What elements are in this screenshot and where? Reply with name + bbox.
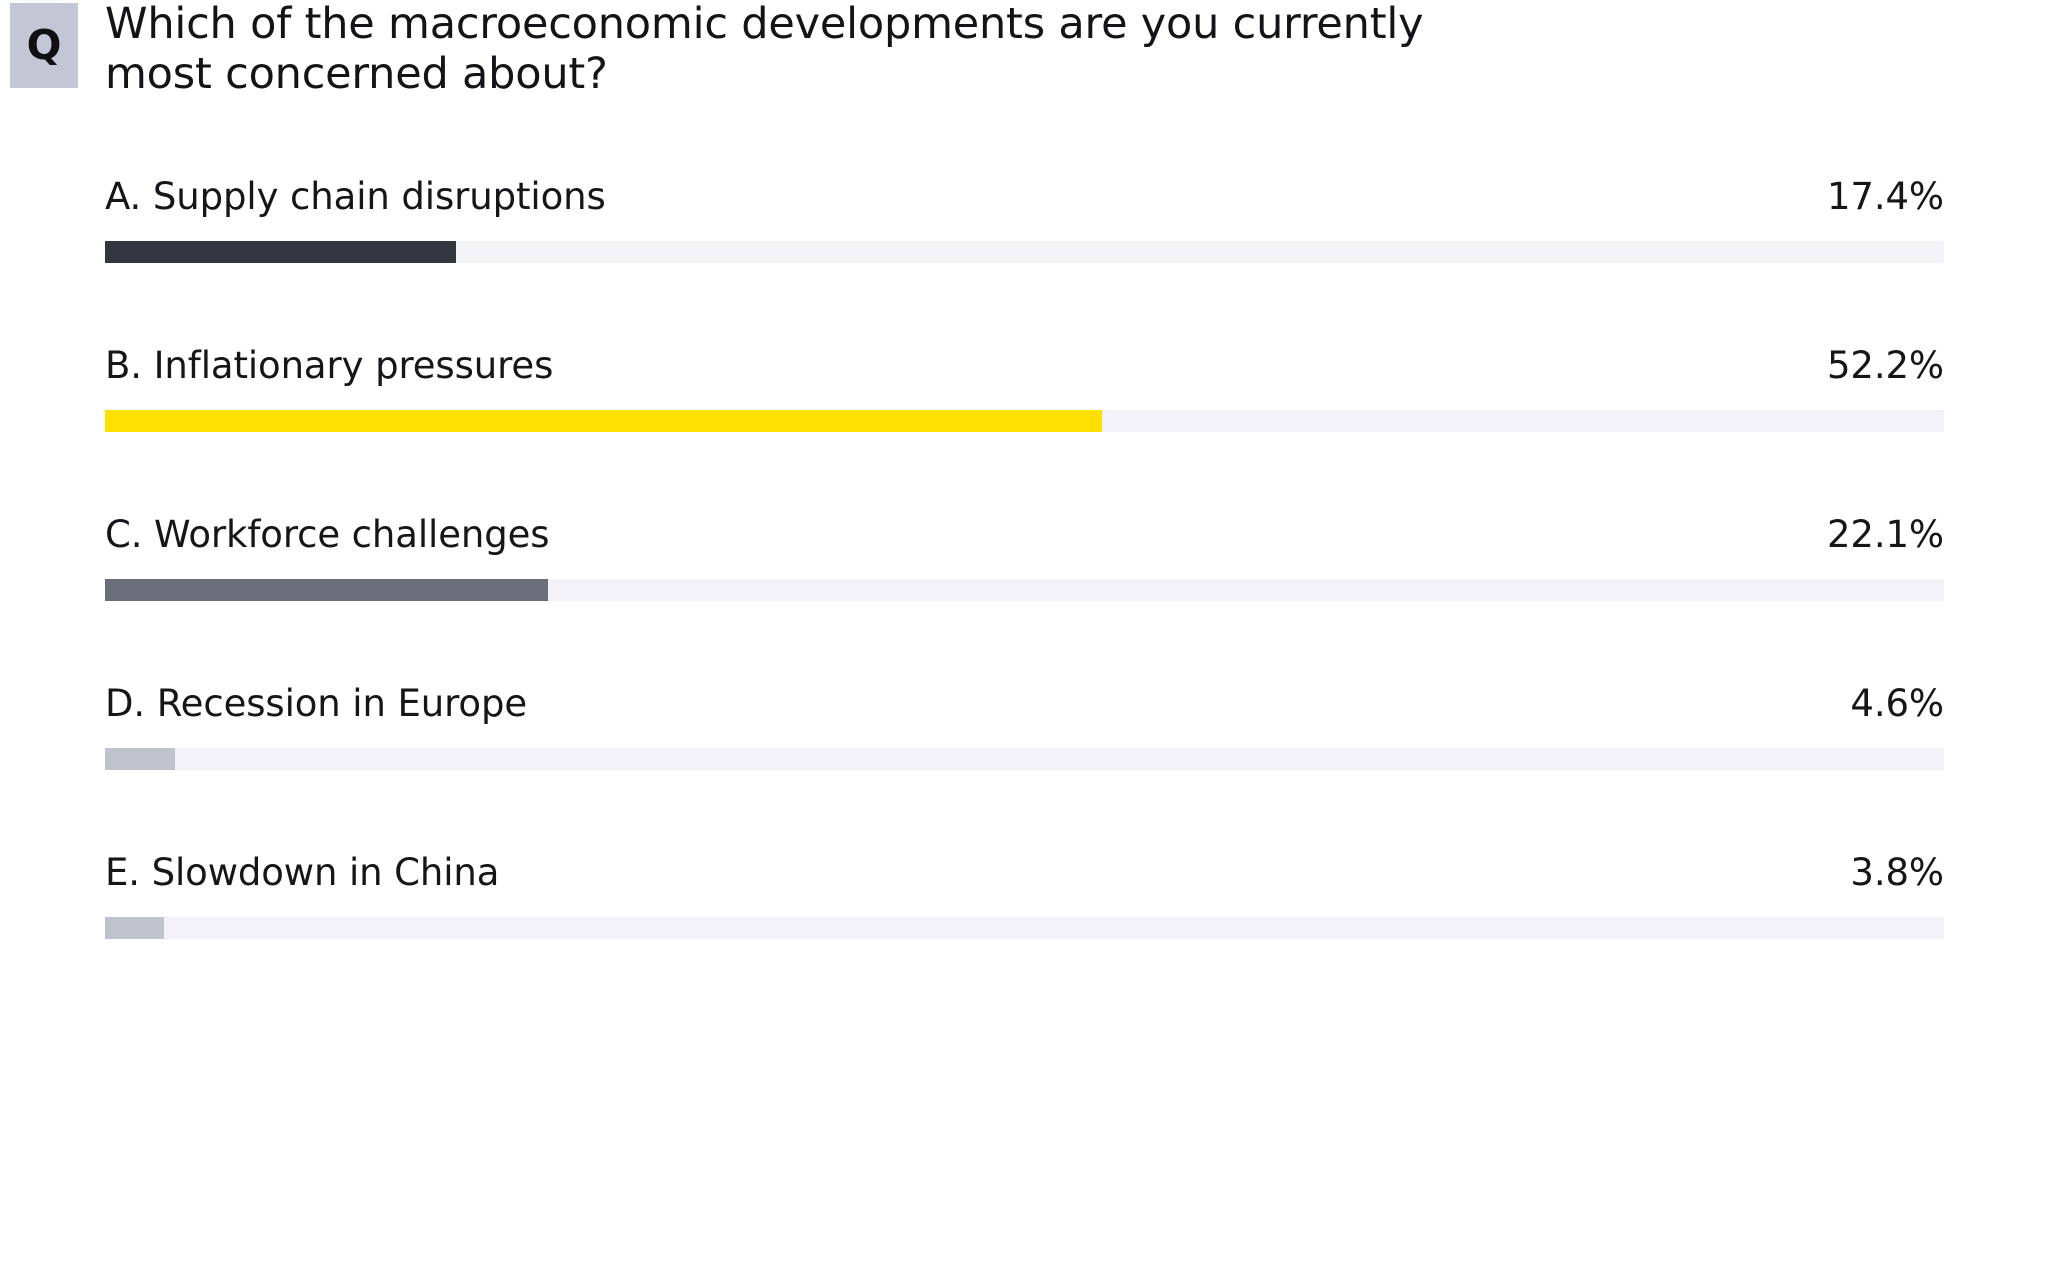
poll-option-bar-track-a <box>105 241 1944 263</box>
poll-option-row-d[interactable]: D. Recession in Europe 4.6% <box>105 682 1944 851</box>
poll-option-bar-track-d <box>105 748 1944 770</box>
poll-option-label-a: A. Supply chain disruptions <box>105 175 606 218</box>
poll-option-label-e: E. Slowdown in China <box>105 851 499 894</box>
poll-option-bar-fill-c <box>105 579 548 601</box>
page-title: Which of the macroeconomic developments … <box>105 0 1395 100</box>
page-title-line-1: Which of the macroeconomic developments … <box>105 0 1395 50</box>
poll-option-row-b[interactable]: B. Inflationary pressures 52.2% <box>105 344 1944 513</box>
poll-option-bar-track-e <box>105 917 1944 939</box>
poll-option-header-d: D. Recession in Europe 4.6% <box>105 682 1944 734</box>
page-title-line-2: most concerned about? <box>105 50 1395 100</box>
poll-option-header-c: C. Workforce challenges 22.1% <box>105 513 1944 565</box>
poll-option-percent-e: 3.8% <box>1850 851 1944 894</box>
poll-option-bar-track-c <box>105 579 1944 601</box>
poll-option-row-a[interactable]: A. Supply chain disruptions 17.4% <box>105 175 1944 344</box>
poll-option-bar-fill-d <box>105 748 175 770</box>
poll-option-bar-fill-b <box>105 410 1102 432</box>
poll-option-row-c[interactable]: C. Workforce challenges 22.1% <box>105 513 1944 682</box>
poll-option-bar-track-b <box>105 410 1944 432</box>
poll-option-bar-fill-e <box>105 917 164 939</box>
poll-option-percent-c: 22.1% <box>1827 513 1944 556</box>
poll-option-label-d: D. Recession in Europe <box>105 682 527 725</box>
poll-option-header-e: E. Slowdown in China 3.8% <box>105 851 1944 903</box>
poll-option-percent-d: 4.6% <box>1850 682 1944 725</box>
poll-option-label-c: C. Workforce challenges <box>105 513 549 556</box>
poll-results-list: A. Supply chain disruptions 17.4% B. Inf… <box>105 175 1944 991</box>
poll-option-bar-fill-a <box>105 241 456 263</box>
question-badge: Q <box>10 3 78 88</box>
question-header: Q Which of the macroeconomic development… <box>0 0 2048 100</box>
poll-option-percent-a: 17.4% <box>1827 175 1944 218</box>
poll-option-percent-b: 52.2% <box>1827 344 1944 387</box>
poll-option-label-b: B. Inflationary pressures <box>105 344 553 387</box>
poll-option-row-e[interactable]: E. Slowdown in China 3.8% <box>105 851 1944 991</box>
question-badge-letter: Q <box>27 25 62 66</box>
poll-option-header-b: B. Inflationary pressures 52.2% <box>105 344 1944 396</box>
poll-option-header-a: A. Supply chain disruptions 17.4% <box>105 175 1944 227</box>
